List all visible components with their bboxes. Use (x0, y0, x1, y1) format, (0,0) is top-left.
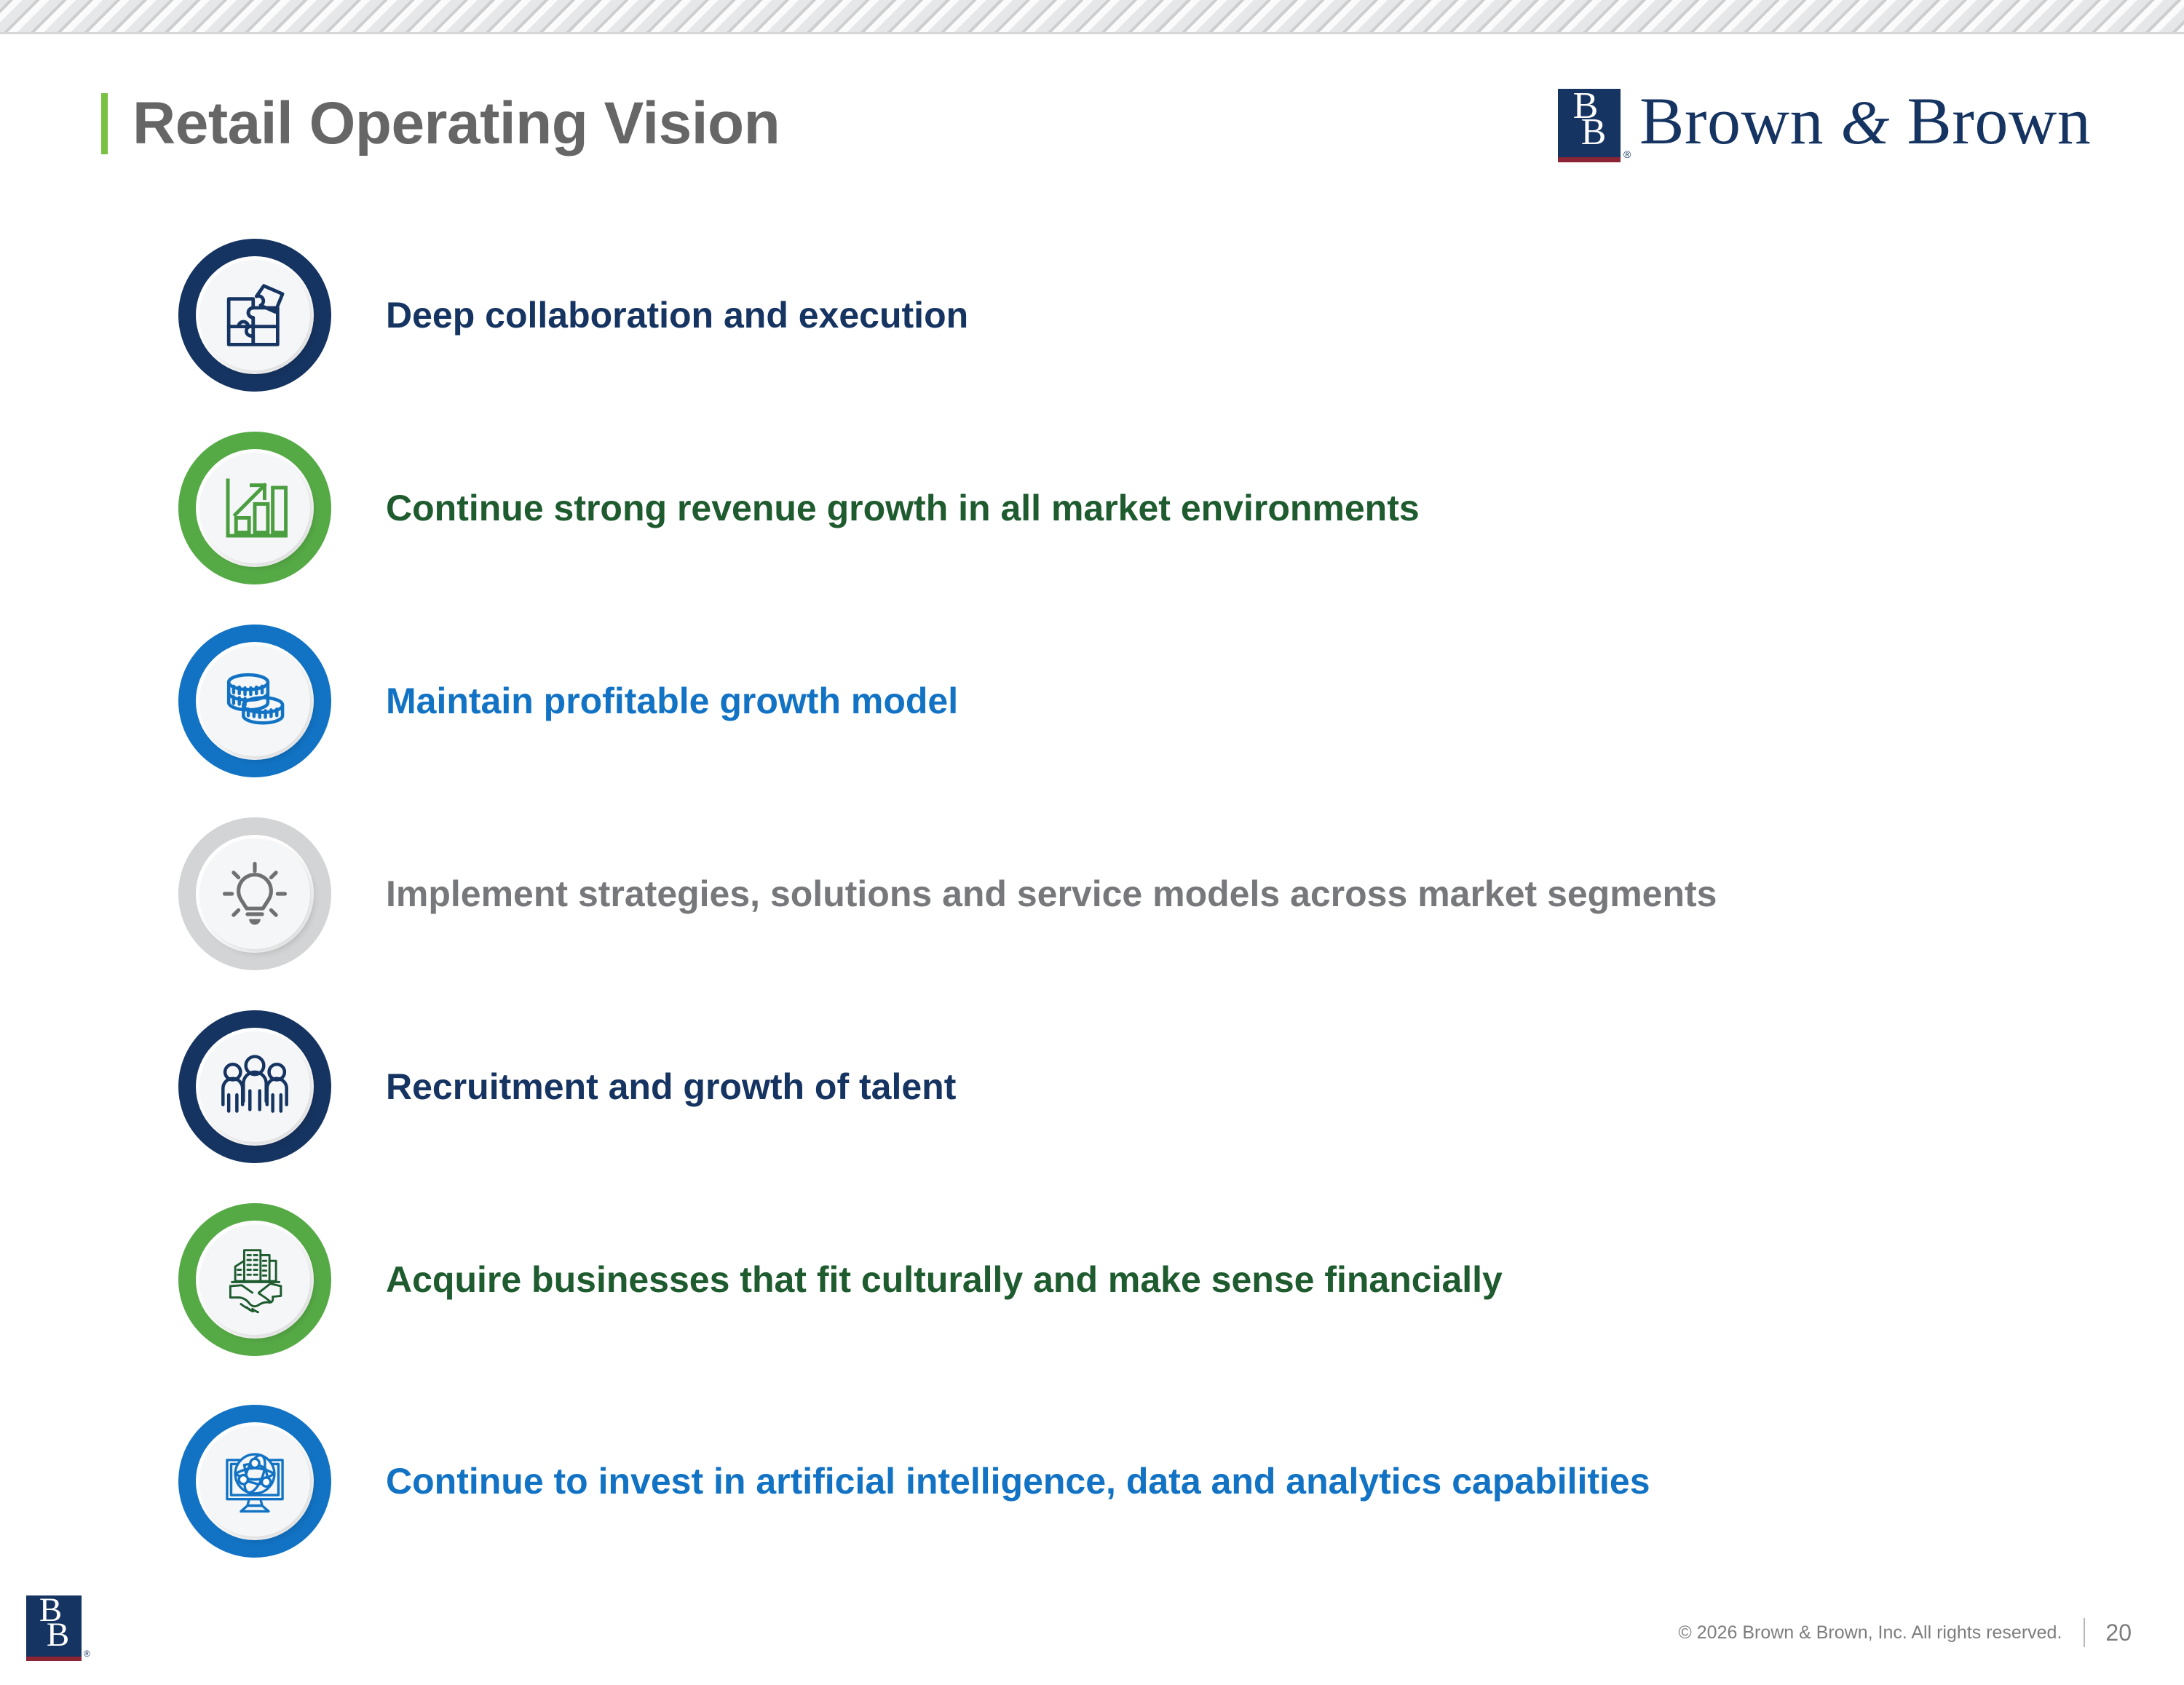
list-item: Implement strategies, solutions and serv… (0, 797, 2184, 990)
brand-wordmark-right: Brown (1907, 84, 2091, 158)
list-item-label: Continue to invest in artificial intelli… (386, 1456, 1650, 1506)
handshake-buildings-icon (214, 1239, 296, 1320)
slide: Retail Operating Vision B B ® Brown & Br… (0, 0, 2184, 1685)
icon-container (178, 239, 331, 392)
icon-container (178, 1010, 331, 1163)
top-decorative-band (0, 0, 2184, 33)
title-accent-bar (101, 93, 108, 154)
page-title: Retail Operating Vision (132, 80, 780, 167)
footer-brand-monogram-icon: B B ® (26, 1595, 82, 1657)
brand-monogram-b-bottom: B (1567, 118, 1621, 147)
brand-registered-mark: ® (1623, 148, 1631, 160)
list-item-label: Maintain profitable growth model (386, 676, 958, 726)
icon-container (178, 1405, 331, 1558)
icon-container (178, 817, 331, 970)
list-item: Continue strong revenue growth in all ma… (0, 411, 2184, 604)
list-item-label: Acquire businesses that fit culturally a… (386, 1255, 1503, 1304)
list-item-label: Recruitment and growth of talent (386, 1062, 956, 1111)
brand-wordmark-ampersand: & (1840, 87, 1889, 157)
brand-logo: B B ® Brown & Brown (1558, 84, 2091, 157)
brand-monogram-icon: B B ® (1558, 89, 1621, 157)
footer: © 2026 Brown & Brown, Inc. All rights re… (1678, 1618, 2132, 1647)
puzzle-pieces-icon (214, 274, 296, 356)
footer-monogram-b-bottom: B (34, 1622, 82, 1648)
copyright-text: © 2026 Brown & Brown, Inc. All rights re… (1678, 1622, 2062, 1644)
list-item-label: Implement strategies, solutions and serv… (386, 869, 1717, 919)
footer-registered-mark: ® (84, 1649, 90, 1659)
list-item: Maintain profitable growth model (0, 604, 2184, 797)
list-item-label: Deep collaboration and execution (386, 290, 968, 340)
page-number: 20 (2105, 1619, 2132, 1646)
brand-wordmark: Brown & Brown (1639, 86, 2091, 157)
vision-list: Deep collaboration and execution (0, 218, 2184, 1587)
coins-stack-icon (214, 660, 296, 742)
list-item: Acquire businesses that fit culturally a… (0, 1183, 2184, 1376)
list-item-label: Continue strong revenue growth in all ma… (386, 483, 1420, 533)
list-item: Continue to invest in artificial intelli… (0, 1376, 2184, 1587)
footer-divider (2084, 1618, 2085, 1647)
top-band-divider (0, 32, 2184, 34)
icon-container (178, 1203, 331, 1356)
monitor-network-globe-icon (214, 1440, 296, 1522)
lightbulb-icon (214, 853, 296, 935)
icon-container (178, 432, 331, 584)
list-item: Deep collaboration and execution (0, 218, 2184, 411)
brand-wordmark-left: Brown (1639, 84, 1824, 158)
bar-chart-growth-icon (214, 467, 296, 549)
people-group-icon (214, 1046, 296, 1127)
list-item: Recruitment and growth of talent (0, 990, 2184, 1183)
footer-monogram-underline (26, 1657, 82, 1661)
brand-monogram-underline (1558, 157, 1621, 162)
icon-container (178, 625, 331, 777)
